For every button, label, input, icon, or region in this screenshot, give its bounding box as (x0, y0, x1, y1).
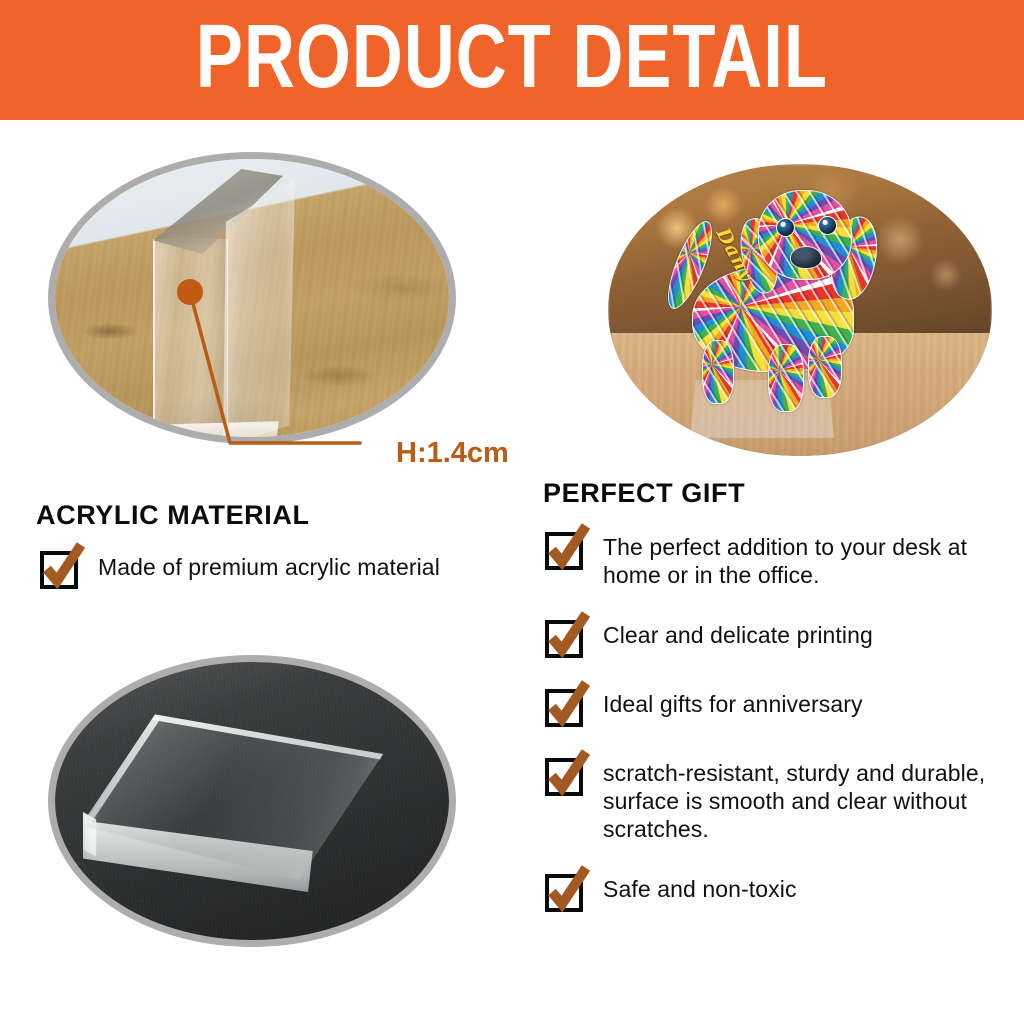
dog-left-eye (776, 218, 795, 237)
feature-text: Clear and delicate printing (603, 612, 873, 649)
acrylic-block (83, 700, 383, 920)
acrylic-slab (143, 159, 295, 437)
list-item: Made of premium acrylic material (40, 543, 520, 589)
checkmark-icon (545, 681, 591, 727)
feature-text: Made of premium acrylic material (98, 543, 440, 581)
checkmark-icon (545, 524, 591, 570)
dog-standee-figure: Dany (672, 184, 894, 434)
feature-text: scratch-resistant, sturdy and durable, s… (603, 750, 1013, 843)
dachshund-acrylic-standee-photo: Dany (608, 164, 992, 456)
list-item: scratch-resistant, sturdy and durable, s… (545, 750, 1013, 843)
dog-front-left-leg (702, 340, 734, 404)
list-item: The perfect addition to your desk at hom… (545, 524, 1013, 589)
height-callout-label: H:1.4cm (396, 437, 509, 470)
checkmark-icon (545, 612, 591, 658)
photo-inner (55, 662, 449, 940)
list-item: Clear and delicate printing (545, 612, 1013, 658)
feature-list-acrylic-material: Made of premium acrylic material (40, 543, 520, 612)
page-title: PRODUCT DETAIL (196, 13, 828, 107)
photo-inner: Dany (608, 164, 992, 456)
list-item: Safe and non-toxic (545, 866, 1013, 912)
acrylic-slab-right-face (223, 179, 295, 437)
photo-inner (55, 159, 449, 437)
acrylic-slab-front-face (153, 239, 228, 437)
dog-back-right-leg (808, 336, 842, 398)
feature-text: The perfect addition to your desk at hom… (603, 524, 1013, 589)
dog-front-right-leg (768, 344, 804, 412)
feature-list-perfect-gift: The perfect addition to your desk at hom… (545, 524, 1013, 935)
feature-text: Safe and non-toxic (603, 866, 797, 903)
section-heading-acrylic-material: ACRYLIC MATERIAL (36, 500, 310, 531)
acrylic-edge-on-wood-photo (48, 152, 456, 444)
checkmark-icon (545, 866, 591, 912)
dachshund-artwork: Dany (672, 184, 894, 434)
list-item: Ideal gifts for anniversary (545, 681, 1013, 727)
dog-nose (790, 246, 822, 269)
acrylic-block-on-slate-photo (48, 655, 456, 947)
feature-text: Ideal gifts for anniversary (603, 681, 863, 718)
checkmark-icon (40, 543, 86, 589)
section-heading-perfect-gift: PERFECT GIFT (543, 478, 745, 509)
dog-right-eye (818, 216, 837, 235)
checkmark-icon (545, 750, 591, 796)
header-banner: PRODUCT DETAIL (0, 0, 1024, 120)
